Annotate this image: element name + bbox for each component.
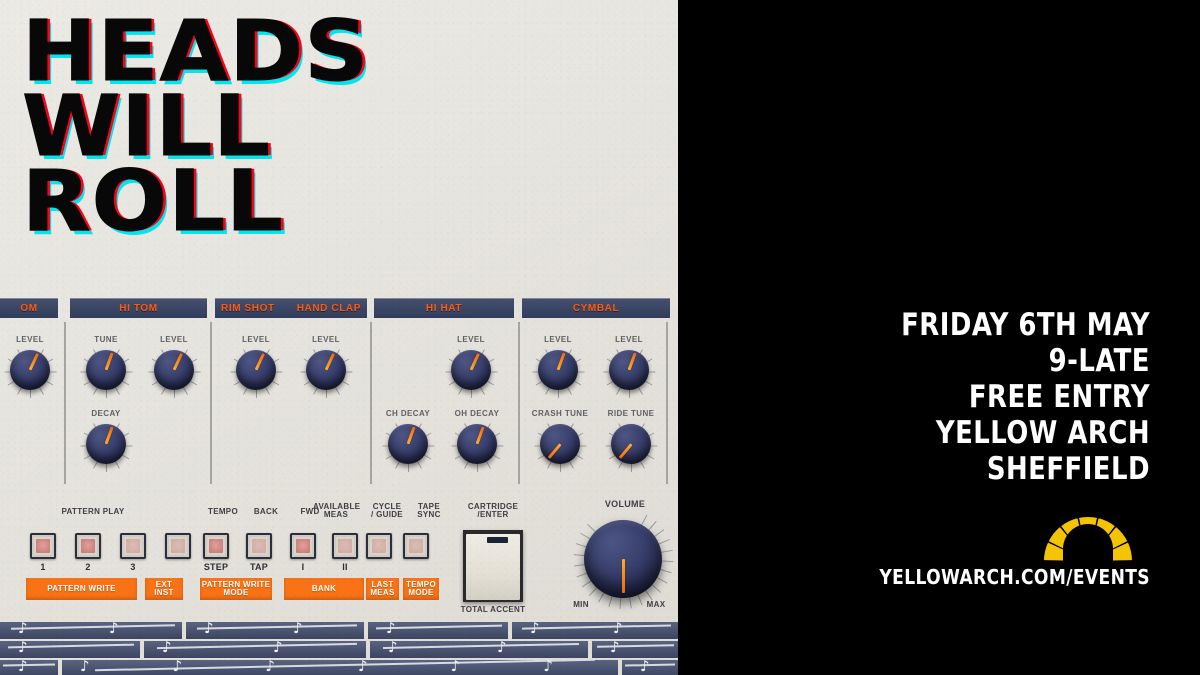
website-url[interactable]: YELLOWARCH.COM/EVENTS xyxy=(751,565,1150,589)
knob-label: LEVEL xyxy=(312,335,340,344)
orange-button-ext[interactable]: EXT INST xyxy=(145,578,183,600)
control-label-tape: TAPE SYNC xyxy=(406,503,452,520)
pad-button-10[interactable] xyxy=(403,533,429,559)
pad-number-label: I xyxy=(281,562,325,572)
knob-ch-decay-7[interactable]: CH DECAY xyxy=(386,422,430,466)
knob-label: CH DECAY xyxy=(386,409,430,418)
knob-label: LEVEL xyxy=(457,335,485,344)
instrument-header-row: OM HI TOM RIM SHOT HAND CLAP HI HAT CYMB… xyxy=(0,298,678,318)
section-header-hi-hat: HI HAT xyxy=(374,298,514,318)
pad-lamp xyxy=(209,539,223,553)
volume-max-label: MAX xyxy=(641,601,671,609)
cartridge-notch xyxy=(487,537,508,543)
eighth-note-icon: ♪ xyxy=(497,641,507,655)
control-label-available: AVAILABLE MEAS xyxy=(313,503,359,520)
knob-level-2[interactable]: LEVEL xyxy=(152,348,196,392)
note-beam xyxy=(3,664,55,667)
section-header-rimshot-handclap: RIM SHOT HAND CLAP xyxy=(215,298,367,318)
knob-label: LEVEL xyxy=(615,335,643,344)
page-title: HEADS WILL ROLL xyxy=(22,18,492,236)
orange-button-tempo[interactable]: TEMPO MODE xyxy=(403,578,439,600)
group-divider xyxy=(210,322,212,484)
knob-level-6[interactable]: LEVEL xyxy=(449,348,493,392)
knob-level-5[interactable]: LEVEL xyxy=(304,348,348,392)
eighth-note-icon: ♪ xyxy=(543,660,553,674)
eighth-note-icon: ♪ xyxy=(530,622,540,636)
knob-level-10[interactable]: LEVEL xyxy=(607,348,651,392)
pad-button-1[interactable] xyxy=(30,533,56,559)
orange-button-label: PATTERN WRITE MODE xyxy=(202,581,271,598)
volume-knob[interactable] xyxy=(580,516,666,602)
pad-button-6[interactable] xyxy=(246,533,272,559)
pattern-play-label: PATTERN PLAY xyxy=(48,508,138,516)
eighth-note-icon: ♪ xyxy=(162,641,172,655)
note-panel: ♪ xyxy=(0,660,58,675)
pad-button-3[interactable] xyxy=(120,533,146,559)
note-beam xyxy=(11,624,175,629)
note-panel: ♪♪♪♪♪♪ xyxy=(62,660,618,675)
event-line-entry: FREE ENTRY xyxy=(759,380,1150,416)
eighth-note-icon: ♪ xyxy=(273,641,283,655)
eighth-note-icon: ♪ xyxy=(451,660,461,674)
knob-label: LEVEL xyxy=(242,335,270,344)
orange-button-bank[interactable]: BANK xyxy=(284,578,364,600)
note-panel: ♪♪ xyxy=(512,622,678,639)
pad-lamp xyxy=(409,539,423,553)
orange-button-pattern-write[interactable]: PATTERN WRITE MODE xyxy=(200,578,272,600)
pad-button-7[interactable] xyxy=(290,533,316,559)
cartridge-body xyxy=(466,534,520,600)
eighth-note-icon: ♪ xyxy=(610,641,620,655)
event-line-date: FRIDAY 6TH MAY xyxy=(759,308,1150,344)
title-line-2: WILL xyxy=(22,93,520,160)
pad-number-label: STEP xyxy=(194,562,238,572)
pad-lamp xyxy=(126,539,140,553)
knob-label: LEVEL xyxy=(16,335,44,344)
knob-oh-decay-8[interactable]: OH DECAY xyxy=(455,422,499,466)
note-panel: ♪♪ xyxy=(186,622,364,639)
knob-label: CRASH TUNE xyxy=(532,409,588,418)
eighth-note-icon: ♪ xyxy=(386,622,396,636)
eighth-note-icon: ♪ xyxy=(358,660,368,674)
knob-level-0[interactable]: LEVEL xyxy=(8,348,52,392)
event-line-venue: YELLOW ARCH xyxy=(759,416,1150,452)
note-decoration-strip: ♪♪♪♪♪♪♪♪♪♪♪♪♪♪♪♪♪♪♪♪♪ xyxy=(0,620,678,675)
section-header-cymbal: CYMBAL xyxy=(522,298,670,318)
note-beam xyxy=(197,624,357,629)
group-divider xyxy=(64,322,66,484)
section-label: HAND CLAP xyxy=(297,303,361,314)
pad-lamp xyxy=(372,539,386,553)
control-label-back: BACK xyxy=(243,508,289,516)
title-line-1: HEADS xyxy=(22,18,520,85)
eighth-note-icon: ♪ xyxy=(204,622,214,636)
pad-lamp xyxy=(252,539,266,553)
knob-tune-1[interactable]: TUNE xyxy=(84,348,128,392)
group-divider xyxy=(518,322,520,484)
pad-lamp xyxy=(338,539,352,553)
pad-number-label: 1 xyxy=(21,562,65,572)
event-details: FRIDAY 6TH MAY 9-LATE FREE ENTRY YELLOW … xyxy=(730,308,1150,488)
eighth-note-icon: ♪ xyxy=(293,622,303,636)
yellow-arch-sun-icon xyxy=(1035,503,1141,565)
title-line-3: ROLL xyxy=(22,168,520,235)
pad-number-label: 3 xyxy=(111,562,155,572)
orange-button-label: PATTERN WRITE xyxy=(47,585,116,593)
eighth-note-icon: ♪ xyxy=(109,622,119,636)
note-beam xyxy=(625,664,675,667)
eighth-note-icon: ♪ xyxy=(18,622,28,636)
pad-button-9[interactable] xyxy=(366,533,392,559)
control-label-cycle: CYCLE / GUIDE xyxy=(364,503,410,520)
volume-min-label: MIN xyxy=(566,601,596,609)
knob-label: OH DECAY xyxy=(455,409,500,418)
section-label: OM xyxy=(20,303,37,314)
pad-number-label: II xyxy=(323,562,367,572)
eighth-note-icon: ♪ xyxy=(18,660,28,674)
knob-decay-3[interactable]: DECAY xyxy=(84,422,128,466)
orange-button-label: BANK xyxy=(312,585,336,593)
eighth-note-icon: ♪ xyxy=(173,660,183,674)
knob-label: LEVEL xyxy=(544,335,572,344)
knob-crash-tune-11[interactable]: CRASH TUNE xyxy=(538,422,582,466)
orange-button-last[interactable]: LAST MEAS xyxy=(366,578,399,600)
eighth-note-icon: ♪ xyxy=(640,660,650,674)
pad-button-8[interactable] xyxy=(332,533,358,559)
pad-lamp xyxy=(296,539,310,553)
note-beam xyxy=(597,644,674,648)
section-label: HI TOM xyxy=(119,303,157,314)
section-label: CYMBAL xyxy=(573,303,619,314)
eighth-note-icon: ♪ xyxy=(18,641,28,655)
eighth-note-icon: ♪ xyxy=(80,660,90,674)
orange-button-label: EXT INST xyxy=(154,581,173,598)
eighth-note-icon: ♪ xyxy=(265,660,275,674)
poster-canvas: HEADS WILL ROLL OM HI TOM RIM SHOT HAND … xyxy=(0,0,1200,675)
note-beam xyxy=(383,643,579,649)
section-label: HI HAT xyxy=(426,303,462,314)
note-beam xyxy=(95,660,595,671)
note-panel: ♪♪ xyxy=(0,622,182,639)
knob-level-4[interactable]: LEVEL xyxy=(234,348,278,392)
group-divider xyxy=(666,322,668,484)
note-beam xyxy=(522,625,671,630)
note-panel: ♪♪ xyxy=(370,641,588,658)
knob-level-9[interactable]: LEVEL xyxy=(536,348,580,392)
event-line-time: 9-LATE xyxy=(759,344,1150,380)
knob-label: TUNE xyxy=(94,335,117,344)
section-label: RIM SHOT xyxy=(221,303,275,314)
orange-button-label: TEMPO MODE xyxy=(406,581,436,598)
note-panel: ♪ xyxy=(368,622,508,639)
knob-ride-tune-12[interactable]: RIDE TUNE xyxy=(609,422,653,466)
cartridge-enter-label: CARTRIDGE /ENTER xyxy=(455,503,531,520)
note-panel: ♪ xyxy=(0,641,140,658)
note-panel: ♪♪ xyxy=(144,641,366,658)
orange-button-pattern-write[interactable]: PATTERN WRITE xyxy=(26,578,137,600)
pad-number-label: TAP xyxy=(237,562,281,572)
knob-label: LEVEL xyxy=(160,335,188,344)
volume-pointer xyxy=(622,559,625,593)
event-line-city: SHEFFIELD xyxy=(759,452,1150,488)
total-accent-label: TOTAL ACCENT xyxy=(452,606,534,614)
group-divider xyxy=(370,322,372,484)
control-label-tempo: TEMPO xyxy=(200,508,246,516)
eighth-note-icon: ♪ xyxy=(613,622,623,636)
eighth-note-icon: ♪ xyxy=(388,641,398,655)
pad-button-5[interactable] xyxy=(203,533,229,559)
pad-button-2[interactable] xyxy=(75,533,101,559)
pad-lamp xyxy=(171,539,185,553)
note-panel: ♪ xyxy=(622,660,678,675)
pad-button-4[interactable] xyxy=(165,533,191,559)
drum-machine-photo: HEADS WILL ROLL OM HI TOM RIM SHOT HAND … xyxy=(0,0,678,675)
pad-lamp xyxy=(81,539,95,553)
note-beam xyxy=(157,643,357,649)
orange-button-label: LAST MEAS xyxy=(370,581,394,598)
cartridge-slot[interactable] xyxy=(463,530,523,602)
knob-label: RIDE TUNE xyxy=(608,409,655,418)
knob-label: DECAY xyxy=(91,409,120,418)
note-panel: ♪ xyxy=(592,641,678,658)
pad-number-label: 2 xyxy=(66,562,110,572)
section-header-hi-tom: HI TOM xyxy=(70,298,207,318)
pad-lamp xyxy=(36,539,50,553)
section-header-low-tom: OM xyxy=(0,298,58,318)
